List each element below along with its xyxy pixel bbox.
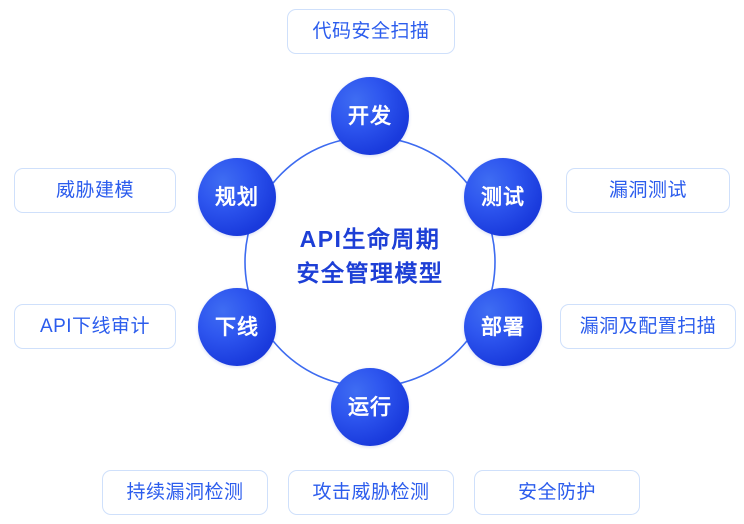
stage-node-test[interactable]: 测试 bbox=[464, 158, 542, 236]
stage-node-offline[interactable]: 下线 bbox=[198, 288, 276, 366]
stage-node-dev-label: 开发 bbox=[348, 100, 392, 130]
stage-node-plan[interactable]: 规划 bbox=[198, 158, 276, 236]
capability-pill-threat-model[interactable]: 威胁建模 bbox=[14, 168, 176, 213]
stage-node-run[interactable]: 运行 bbox=[331, 368, 409, 446]
capability-pill-protection[interactable]: 安全防护 bbox=[474, 470, 640, 515]
capability-pill-offline-audit[interactable]: API下线审计 bbox=[14, 304, 176, 349]
stage-node-test-label: 测试 bbox=[481, 181, 525, 211]
capability-pill-code-scan[interactable]: 代码安全扫描 bbox=[287, 9, 455, 54]
stage-node-deploy[interactable]: 部署 bbox=[464, 288, 542, 366]
cycle-ring-circle bbox=[245, 137, 495, 387]
stage-node-run-label: 运行 bbox=[348, 391, 392, 421]
stage-node-offline-label: 下线 bbox=[215, 311, 259, 341]
capability-pill-attack-threat[interactable]: 攻击威胁检测 bbox=[288, 470, 454, 515]
capability-pill-vuln-test[interactable]: 漏洞测试 bbox=[566, 168, 730, 213]
stage-node-dev[interactable]: 开发 bbox=[331, 77, 409, 155]
api-lifecycle-diagram: 规划 开发 测试 部署 运行 下线 API生命周期 安全管理模型 代码安全扫描 … bbox=[0, 0, 744, 524]
stage-node-deploy-label: 部署 bbox=[481, 311, 525, 341]
capability-pill-continuous-vuln[interactable]: 持续漏洞检测 bbox=[102, 470, 268, 515]
capability-pill-vuln-config[interactable]: 漏洞及配置扫描 bbox=[560, 304, 736, 349]
stage-node-plan-label: 规划 bbox=[215, 181, 259, 211]
